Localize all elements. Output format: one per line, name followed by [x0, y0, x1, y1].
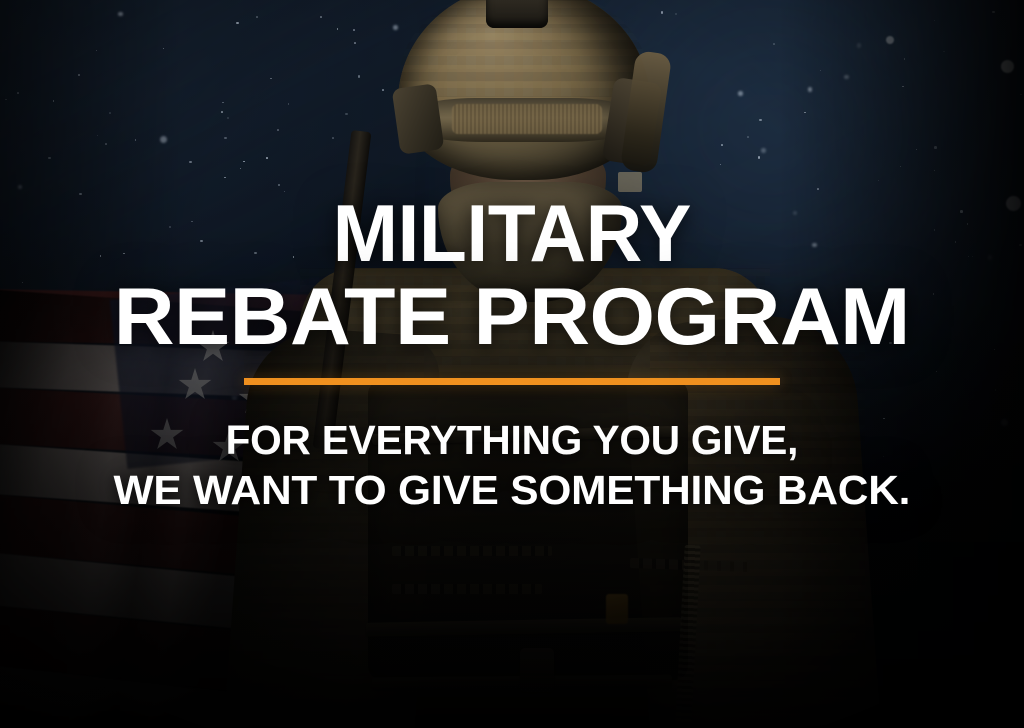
- headline-line-1: MILITARY: [141, 196, 884, 273]
- subheadline: FOR EVERYTHING YOU GIVE, WE WANT TO GIVE…: [127, 415, 897, 516]
- orange-divider: [244, 378, 780, 385]
- page-title: MILITARY REBATE PROGRAM: [129, 196, 895, 356]
- subheadline-line-1: FOR EVERYTHING YOU GIVE,: [131, 415, 893, 465]
- subheadline-line-2: WE WANT TO GIVE SOMETHING BACK.: [114, 465, 911, 515]
- banner-content: MILITARY REBATE PROGRAM FOR EVERYTHING Y…: [0, 0, 1024, 728]
- military-rebate-banner: MILITARY REBATE PROGRAM FOR EVERYTHING Y…: [0, 0, 1024, 728]
- headline-line-2: REBATE PROGRAM: [114, 279, 910, 356]
